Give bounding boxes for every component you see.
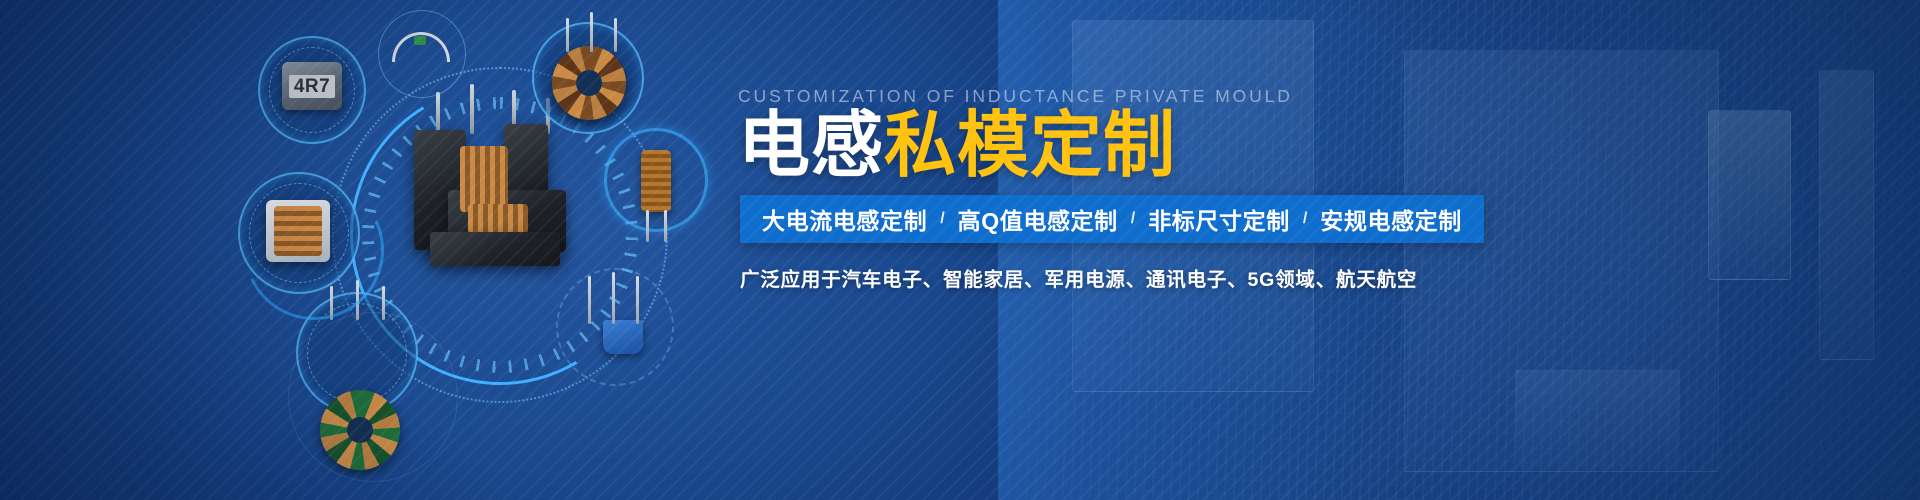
toroid-lead-1: [566, 18, 569, 52]
feature-tag-0: 大电流电感定制: [762, 202, 927, 236]
product-toroidal-common-mode-choke: [552, 46, 626, 120]
blue-cap-lead-1: [588, 276, 591, 324]
promo-banner: 4R7: [0, 0, 1920, 500]
banner-headline: 电感私模定制: [738, 110, 1176, 182]
headline-white-part: 电感: [738, 106, 884, 186]
blue-cap-lead-2: [612, 272, 615, 324]
feature-tag-separator: /: [1118, 210, 1148, 228]
headline-gold-part: 私模定制: [884, 106, 1176, 186]
banner-description: 广泛应用于汽车电子、智能家居、军用电源、通讯电子、5G领域、航天航空: [740, 263, 1417, 292]
feature-tag-2: 非标尺寸定制: [1148, 202, 1290, 236]
tech-ring-accent-1: [288, 312, 458, 482]
product-rod-core-inductor: [641, 150, 671, 212]
banner-eyebrow-text: CUSTOMIZATION OF INDUCTANCE PRIVATE MOUL…: [738, 86, 1293, 107]
toroid-lead-2: [590, 12, 593, 52]
product-high-current-power-inductor: [408, 120, 598, 275]
smd-body: 4R7: [282, 62, 342, 110]
product-blue-radial-inductor: [603, 320, 643, 354]
rod-lead-1: [646, 210, 649, 242]
toroid-lead-3: [614, 18, 617, 52]
rod-lead-2: [664, 210, 667, 242]
feature-tag-separator: /: [927, 210, 957, 228]
banner-content: CUSTOMIZATION OF INDUCTANCE PRIVATE MOUL…: [738, 0, 1858, 500]
feature-tag-separator: /: [1290, 210, 1320, 228]
feature-tag-3: 安规电感定制: [1320, 202, 1462, 236]
feature-tag-bar: 大电流电感定制 / 高Q值电感定制 / 非标尺寸定制 / 安规电感定制: [740, 195, 1484, 243]
product-artwork: 4R7: [0, 0, 740, 500]
smd-code-label: 4R7: [289, 75, 335, 98]
blue-cap-lead-3: [636, 276, 639, 324]
feature-tag-1: 高Q值电感定制: [958, 202, 1118, 236]
product-smd-power-inductor: 4R7: [282, 62, 342, 110]
